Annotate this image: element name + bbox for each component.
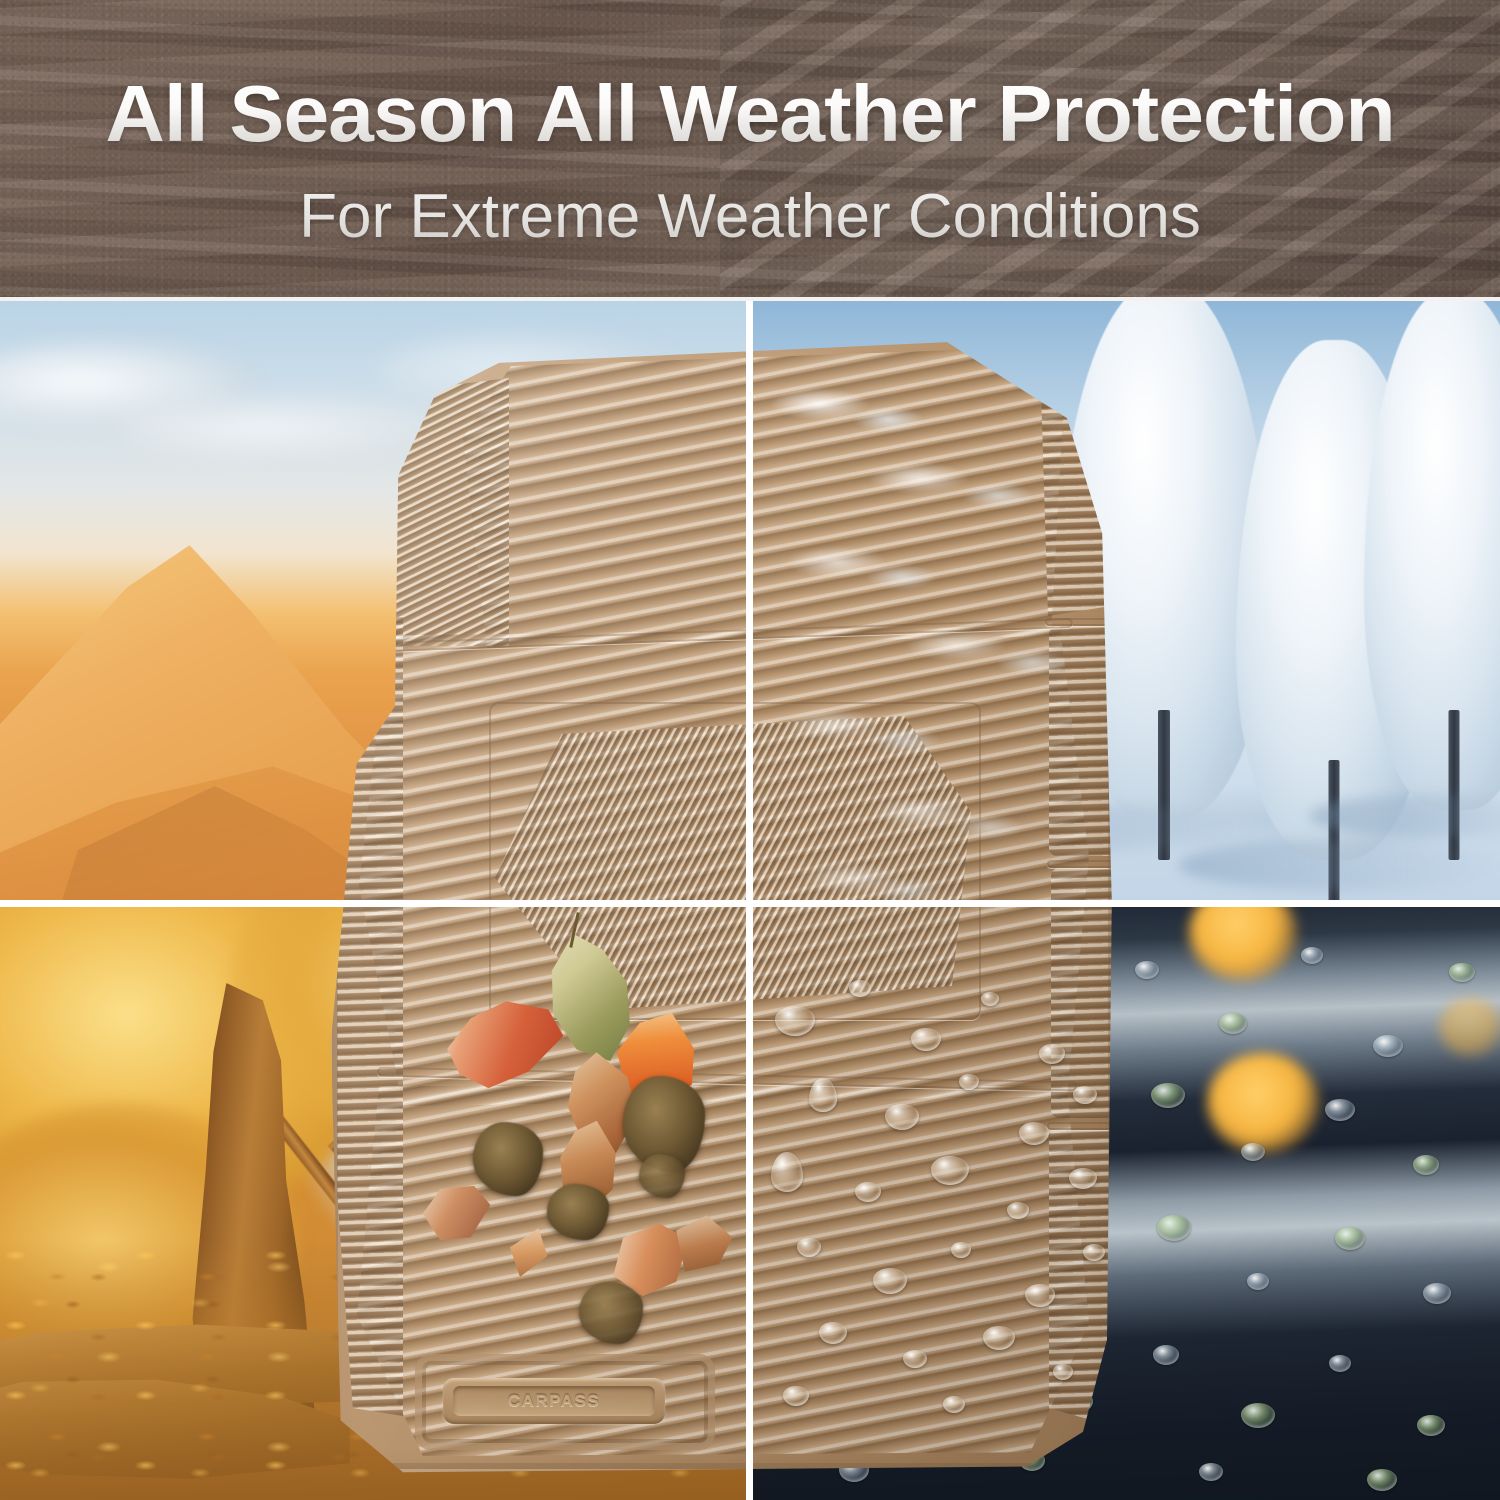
desert-sky-and-sand	[0, 300, 749, 903]
quadrant-snow	[749, 300, 1500, 903]
rainy-window	[749, 903, 1500, 1500]
rain-droplet	[885, 1377, 917, 1401]
rain-droplet	[809, 1203, 841, 1227]
rain-droplet	[839, 1459, 869, 1482]
rain-droplet	[1423, 1283, 1451, 1304]
rain-droplet	[1247, 1273, 1269, 1290]
rain-droplet	[1367, 1469, 1397, 1491]
bokeh-light	[1439, 999, 1500, 1057]
header-divider-line	[0, 297, 1500, 301]
rain-droplet	[799, 1333, 827, 1354]
rain-droplet	[1153, 1345, 1179, 1365]
page-subtitle-text: For Extreme Weather Conditions	[299, 186, 1201, 248]
rain-droplet	[1413, 1155, 1439, 1175]
snow-pine-tree	[749, 390, 879, 820]
page-title-text: All Season All Weather Protection	[105, 74, 1394, 154]
rain-droplet	[1329, 1355, 1351, 1372]
rain-droplet	[1063, 1391, 1093, 1413]
rain-droplet	[1157, 1215, 1191, 1241]
rain-droplet	[979, 1205, 1009, 1227]
product-marketing-poster: All Season All Weather Protection For Ex…	[0, 0, 1500, 1500]
tree-shadow	[959, 805, 1239, 851]
rain-droplet	[1373, 1035, 1403, 1057]
rain-droplet	[1241, 1143, 1265, 1161]
rain-droplet	[845, 941, 867, 957]
desert-cloud	[380, 330, 680, 410]
autumn-forest	[0, 903, 749, 1500]
rain-droplet	[975, 1335, 999, 1353]
header-text-group: All Season All Weather Protection For Ex…	[0, 0, 1500, 300]
rain-droplet	[1219, 1013, 1247, 1034]
page-subtitle: For Extreme Weather Conditions	[299, 186, 1201, 248]
bokeh-light	[1189, 903, 1297, 981]
rain-droplet	[1019, 1451, 1045, 1471]
bokeh-light	[1207, 1053, 1319, 1153]
rain-droplet	[1325, 1099, 1355, 1121]
autumn-leaf-litter-ground	[0, 1240, 749, 1500]
tree-shadow	[1179, 840, 1499, 890]
rain-droplet	[1241, 1403, 1275, 1428]
rain-droplet	[1199, 1463, 1223, 1481]
rain-droplet	[891, 1247, 915, 1265]
quadrant-autumn	[0, 903, 749, 1500]
quadrant-divider-horizontal	[0, 900, 1500, 907]
rain-droplet	[1335, 1227, 1365, 1250]
quadrant-rain	[749, 903, 1500, 1500]
snow-sky	[749, 300, 1500, 903]
rain-droplet	[1049, 999, 1083, 1024]
desert-cloud	[120, 395, 480, 465]
rain-droplet	[1301, 947, 1323, 964]
page-title: All Season All Weather Protection	[105, 74, 1394, 154]
rain-droplet	[1151, 1083, 1185, 1108]
snow-pine-tree	[1359, 300, 1500, 830]
rain-droplet	[977, 1071, 999, 1088]
rain-droplet	[1071, 1261, 1097, 1281]
rain-droplet	[899, 1115, 931, 1139]
rain-droplet	[1067, 1127, 1095, 1148]
header-banner: All Season All Weather Protection For Ex…	[0, 0, 1500, 300]
rain-droplet	[1135, 961, 1159, 979]
quadrant-desert	[0, 300, 749, 903]
rain-droplet	[797, 945, 827, 967]
rain-droplet	[989, 931, 1009, 946]
rain-droplet	[823, 1073, 849, 1093]
rain-droplet	[1417, 1415, 1445, 1436]
rain-droplet	[1449, 963, 1475, 982]
